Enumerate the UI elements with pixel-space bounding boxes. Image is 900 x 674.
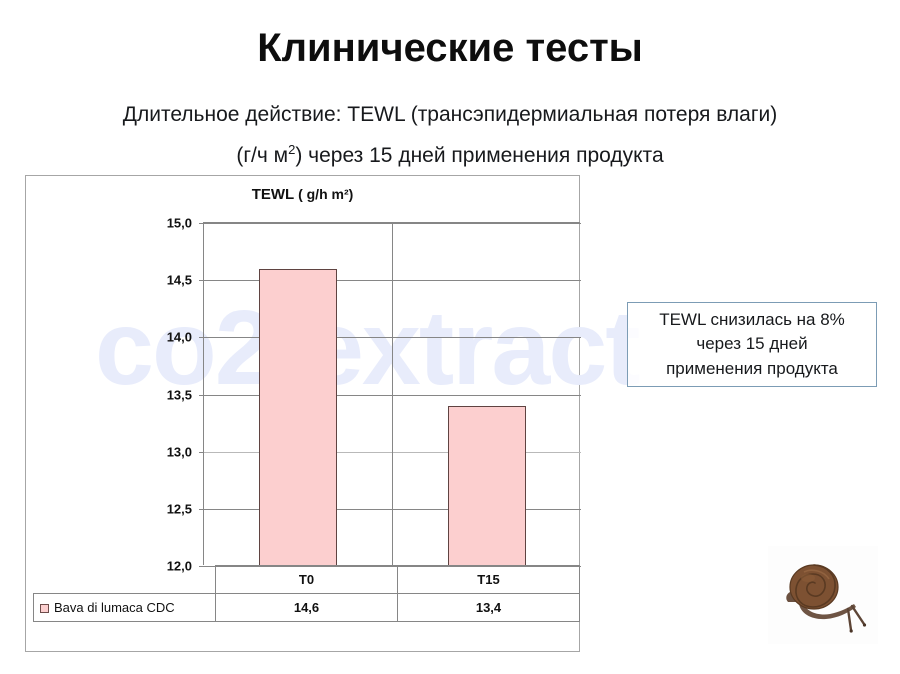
table-row-series: Bava di lumaca CDC 14,6 13,4 [34,594,580,622]
callout-line-1: TEWL снизилась на 8% [659,308,845,332]
snail-photo [768,546,878,644]
table-row-categories: T0 T15 [34,566,580,594]
chart-data-table: T0 T15 Bava di lumaca CDC 14,6 13,4 [33,565,580,622]
chart-title-unit: ( g/h m²) [298,186,353,202]
subtitle-line-1: Длительное действие: TEWL (трансэпидерми… [0,103,900,127]
y-axis-label: 14,5 [167,273,192,288]
bar-chart: TEWL ( g/h m²) 15,014,514,013,513,012,51… [25,175,580,652]
bar-T0 [259,269,337,566]
axis-tick-mark [199,452,204,453]
bar-T15 [448,406,526,566]
category-divider [392,223,393,566]
y-axis-label: 13,0 [167,444,192,459]
axis-tick-mark [199,280,204,281]
y-axis-label: 14,0 [167,330,192,345]
chart-title: TEWL ( g/h m²) [25,186,580,203]
snail-illustration-icon [768,546,878,644]
plot-area: 15,014,514,013,513,012,512,0 [203,222,580,565]
subtitle-unit-prefix: (г/ч м [236,144,288,167]
axis-tick-mark [199,337,204,338]
value-cell-1: 13,4 [398,594,580,622]
category-cell-1: T15 [398,566,580,594]
axis-tick-mark [199,395,204,396]
axis-tick-mark [199,509,204,510]
axis-tick-mark [199,223,204,224]
y-axis-label: 15,0 [167,216,192,231]
value-cell-0: 14,6 [216,594,398,622]
callout-line-2: через 15 дней [696,332,807,356]
page-title: Клинические тесты [0,26,900,71]
chart-title-main: TEWL [252,186,295,203]
legend-entry: Bava di lumaca CDC [34,594,216,622]
y-axis-label: 12,5 [167,501,192,516]
callout-box: TEWL снизилась на 8% через 15 дней приме… [627,302,877,387]
callout-line-3: применения продукта [666,357,838,381]
y-axis-label: 13,5 [167,387,192,402]
table-corner-cell [34,566,216,594]
category-cell-0: T0 [216,566,398,594]
legend-label: Bava di lumaca CDC [54,600,175,615]
subtitle-line-2: (г/ч м2) через 15 дней применения продук… [0,144,900,168]
subtitle-unit-suffix: ) через 15 дней применения продукта [295,144,663,167]
legend-swatch-icon [40,604,49,613]
